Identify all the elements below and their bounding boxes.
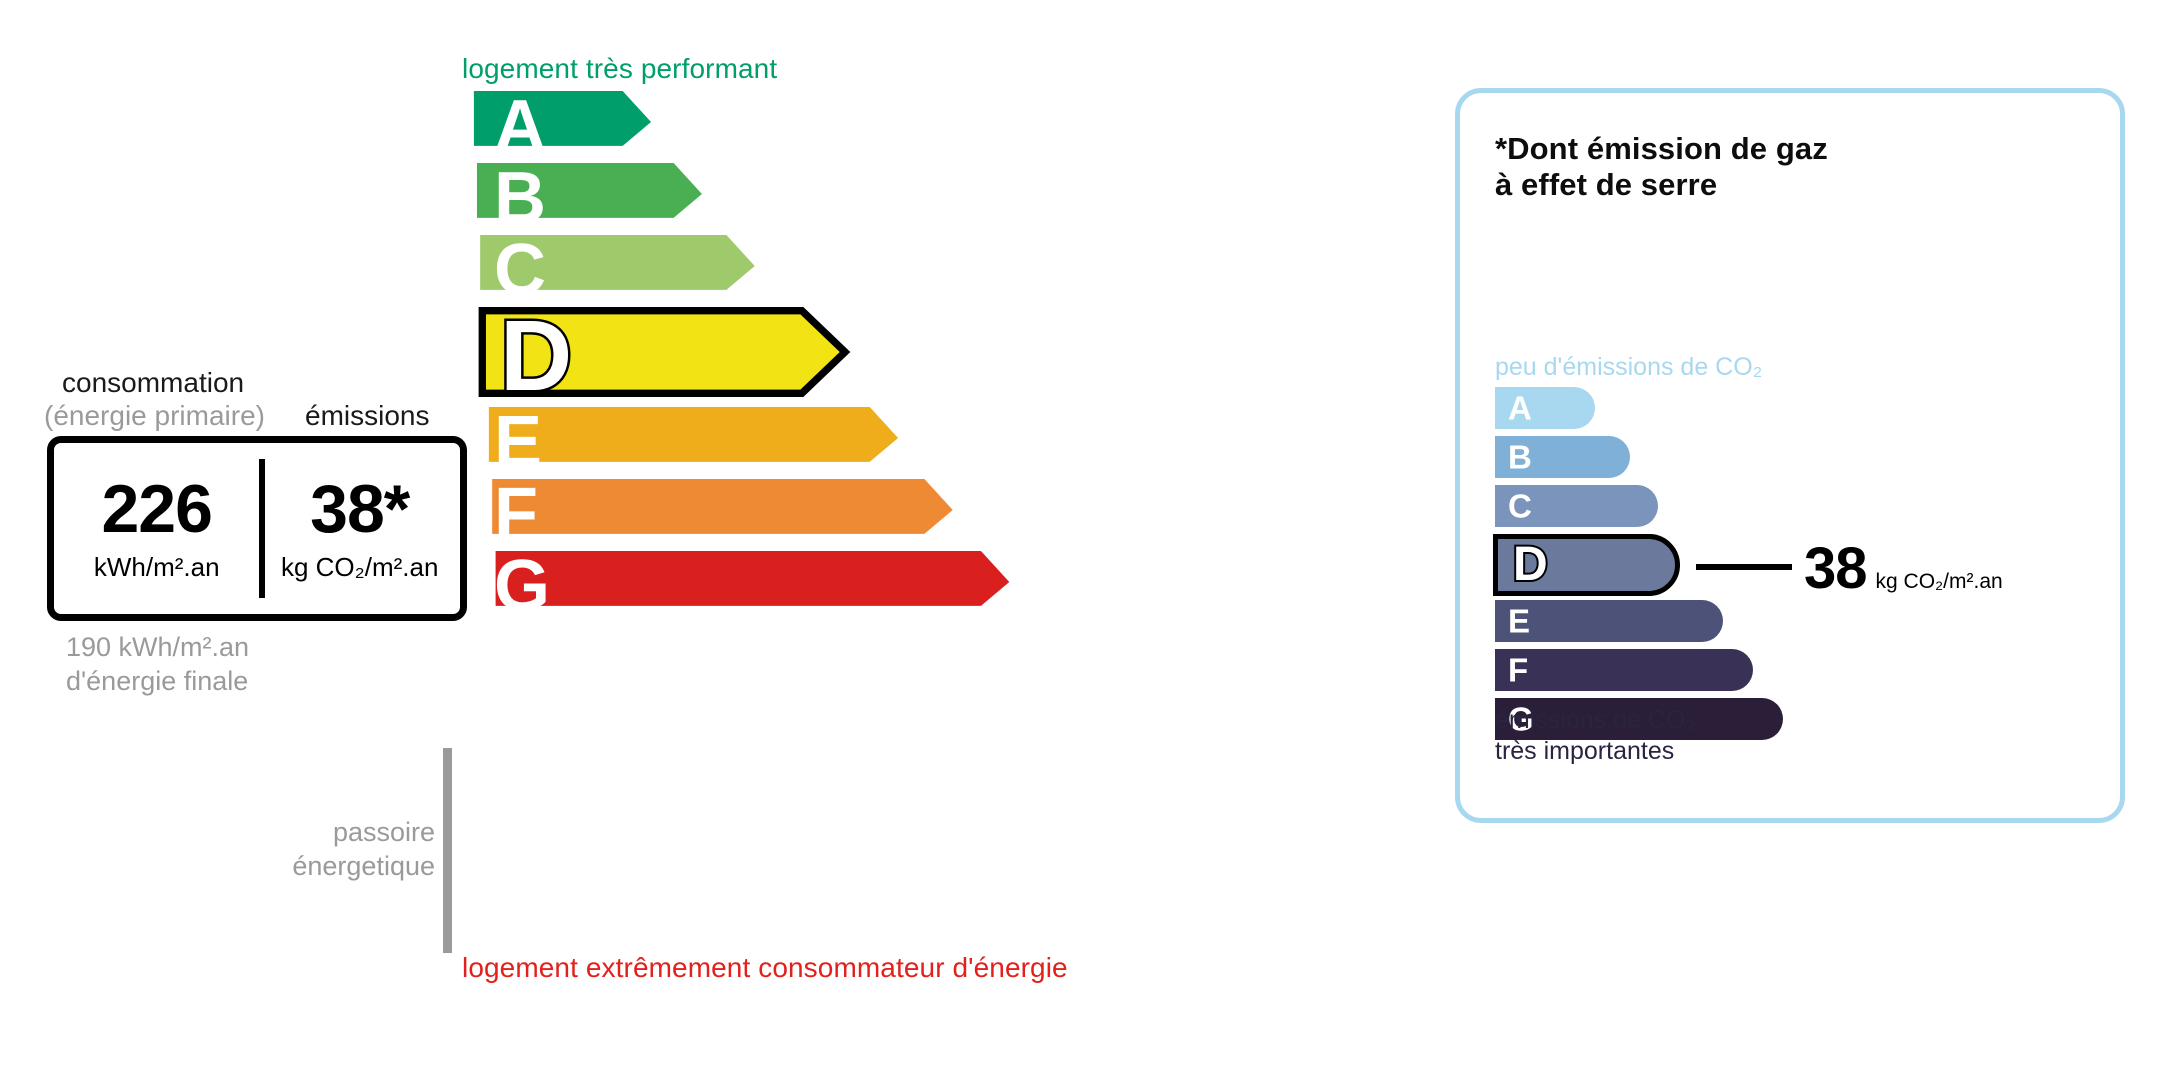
ges-bottom-line-1: émissions de CO₂ xyxy=(1495,705,1695,736)
ges-bar-f: F xyxy=(1495,649,2095,691)
ges-bar-shape-f xyxy=(1495,649,1753,691)
energy-arrow-b: B xyxy=(462,167,1262,229)
emission-value: 38* xyxy=(310,475,409,543)
energy-arrow-shape-a xyxy=(462,91,670,153)
energy-arrow-shape-g xyxy=(462,551,1050,613)
energy-performance-chart: logement très performant ABCDEFG logemen… xyxy=(0,0,1390,1079)
ges-bar-letter-f: F xyxy=(1508,654,1528,687)
ges-panel-title: *Dont émission de gaz à effet de serre xyxy=(1495,131,1828,204)
label-emissions: émissions xyxy=(305,400,429,432)
label-consommation: consommation xyxy=(62,367,244,399)
energy-arrow-list: ABCDEFG xyxy=(462,95,1262,617)
ges-bar-letter-a: A xyxy=(1508,392,1532,425)
value-box: 226 kWh/m².an 38* kg CO₂/m².an xyxy=(47,436,467,621)
energy-arrow-f: F xyxy=(462,483,1262,545)
energy-top-caption: logement très performant xyxy=(462,53,777,85)
energy-arrow-g: G xyxy=(462,555,1262,617)
primary-consumption-cell: 226 kWh/m².an xyxy=(54,443,259,614)
energy-arrow-shape-c xyxy=(462,235,780,297)
ges-bar-d: D38kg CO₂/m².an xyxy=(1495,534,2095,596)
ges-bar-letter-b: B xyxy=(1508,441,1532,474)
ges-callout-value: 38 xyxy=(1804,540,1867,598)
ges-bar-letter-d: D xyxy=(1513,541,1548,589)
energy-arrow-d: D xyxy=(462,311,1262,401)
energie-finale-line-1: 190 kWh/m².an xyxy=(66,630,249,664)
ges-bar-list: ABCD38kg CO₂/m².anEFG xyxy=(1495,387,2095,747)
energy-arrow-shape-d xyxy=(462,307,869,397)
ges-top-caption: peu d'émissions de CO₂ xyxy=(1495,353,1762,382)
energy-arrow-c: C xyxy=(462,239,1262,301)
energy-bottom-caption: logement extrêmement consommateur d'éner… xyxy=(462,952,1068,984)
ges-bar-a: A xyxy=(1495,387,2095,429)
energy-arrow-shape-f xyxy=(462,479,990,541)
ges-bar-e: E xyxy=(1495,600,2095,642)
energy-arrow-shape-b xyxy=(462,163,724,225)
energie-finale-line-2: d'énergie finale xyxy=(66,664,249,698)
passoire-line-2: énergetique xyxy=(270,849,435,883)
ges-bar-letter-e: E xyxy=(1508,605,1530,638)
ges-callout-leader-line xyxy=(1696,564,1792,570)
ges-callout: 38kg CO₂/m².an xyxy=(1804,540,2003,598)
emission-cell: 38* kg CO₂/m².an xyxy=(259,443,460,614)
ges-bottom-caption: émissions de CO₂ très importantes xyxy=(1495,705,1695,766)
ges-bar-letter-c: C xyxy=(1508,490,1532,523)
energy-arrow-a: A xyxy=(462,95,1262,157)
passoire-line-1: passoire xyxy=(270,815,435,849)
ges-bottom-line-2: très importantes xyxy=(1495,736,1695,767)
passoire-energetique-marker xyxy=(443,748,452,953)
primary-consumption-value: 226 xyxy=(101,475,211,543)
energy-arrow-shape-e xyxy=(462,407,932,469)
ges-callout-unit: kg CO₂/m².an xyxy=(1876,570,2003,594)
ges-title-line-2: à effet de serre xyxy=(1495,167,1828,203)
passoire-energetique-label: passoire énergetique xyxy=(270,815,435,883)
ges-bar-c: C xyxy=(1495,485,2095,527)
ges-title-line-1: *Dont émission de gaz xyxy=(1495,131,1828,167)
label-energie-primaire: (énergie primaire) xyxy=(44,400,265,432)
label-energie-finale: 190 kWh/m².an d'énergie finale xyxy=(66,630,249,698)
emission-unit: kg CO₂/m².an xyxy=(281,552,438,583)
energy-arrow-e: E xyxy=(462,411,1262,473)
ges-bar-b: B xyxy=(1495,436,2095,478)
ges-panel: *Dont émission de gaz à effet de serre p… xyxy=(1455,88,2125,823)
primary-consumption-unit: kWh/m².an xyxy=(94,552,220,583)
